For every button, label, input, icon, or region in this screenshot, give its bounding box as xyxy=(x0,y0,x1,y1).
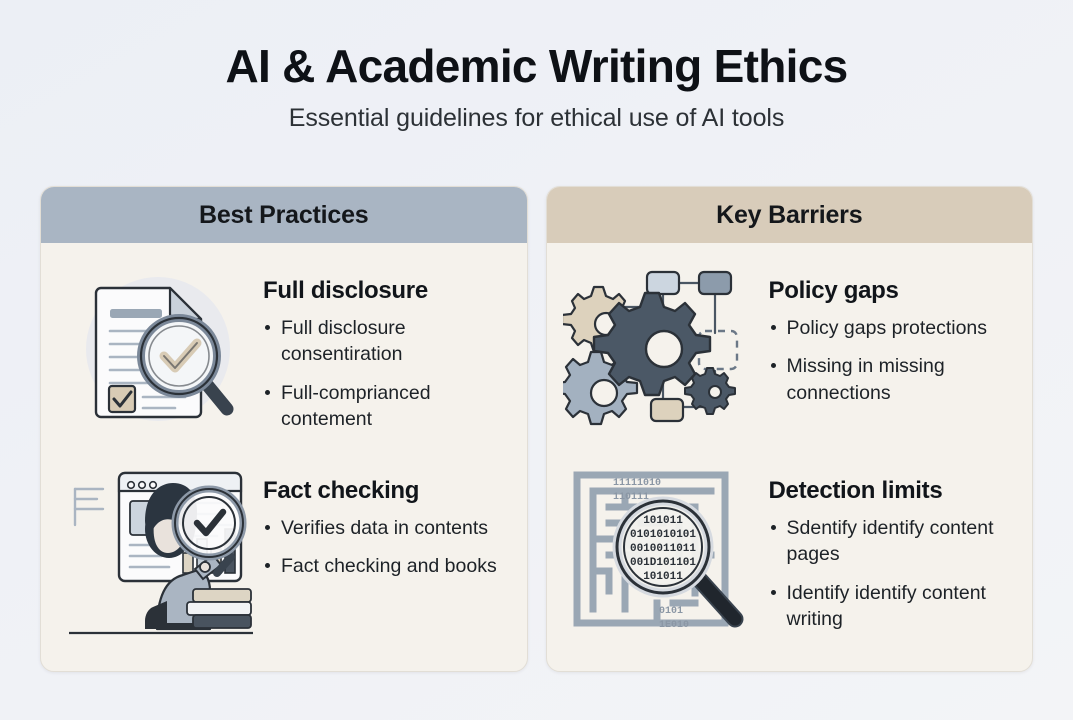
maze-binary-bottom-1: 0101 xyxy=(659,606,683,617)
page-subtitle: Essential guidelines for ethical use of … xyxy=(0,104,1073,133)
lens-binary-row: 0010011011 xyxy=(629,543,695,555)
bullet-item: Fact checking and books xyxy=(263,553,511,579)
gears-network-gap-icon xyxy=(563,261,759,439)
maze-binary-bottom-2: 1E010 xyxy=(659,620,689,631)
bullet-item: Full disclosure consentiration xyxy=(263,315,511,368)
bullets-detection-limits: Sdentify identify content pages Identify… xyxy=(769,515,1017,632)
infographic-page: AI & Academic Writing Ethics Essential g… xyxy=(0,0,1073,720)
panel-best-practices: Best Practices xyxy=(40,186,528,672)
bullet-item: Policy gaps protections xyxy=(769,315,1017,341)
section-fact-checking: Fact checking Verifies data in contents … xyxy=(57,461,511,647)
page-header: AI & Academic Writing Ethics Essential g… xyxy=(0,0,1073,133)
panel-header-key-barriers: Key Barriers xyxy=(547,187,1033,243)
section-detection-limits: 11111010 110111 0101 1E010 1010 xyxy=(563,461,1017,647)
document-magnifier-checkmark-icon xyxy=(57,261,253,439)
bullet-item: Missing in missing connections xyxy=(769,353,1017,406)
maze-binary-magnifier-icon: 11111010 110111 0101 1E010 1010 xyxy=(563,461,759,639)
bullets-fact-checking: Verifies data in contents Fact checking … xyxy=(263,515,511,580)
maze-binary-top-1: 11111010 xyxy=(613,478,661,489)
bullets-full-disclosure: Full disclosure consentiration Full-comp… xyxy=(263,315,511,432)
text-full-disclosure: Full disclosure Full disclosure consenti… xyxy=(263,261,511,432)
bullet-item: Verifies data in contents xyxy=(263,515,511,541)
lens-binary-row: 001D101101 xyxy=(629,557,695,569)
bullet-item: Identify identify content writing xyxy=(769,580,1017,633)
lens-binary-row: 0101010101 xyxy=(629,529,695,541)
section-title-fact-checking: Fact checking xyxy=(263,477,511,505)
panel-header-best-practices: Best Practices xyxy=(41,187,527,243)
page-title: AI & Academic Writing Ethics xyxy=(0,42,1073,90)
panels-container: Best Practices xyxy=(40,186,1033,672)
lens-binary-row: 101011 xyxy=(643,571,683,583)
person-dashboard-books-icon xyxy=(57,461,253,639)
section-policy-gaps: Policy gaps Policy gaps protections Miss… xyxy=(563,261,1017,447)
text-detection-limits: Detection limits Sdentify identify conte… xyxy=(769,461,1017,632)
section-title-full-disclosure: Full disclosure xyxy=(263,277,511,305)
lens-binary-row: 101011 xyxy=(643,515,683,527)
bullet-item: Full-comprianced contement xyxy=(263,380,511,433)
text-policy-gaps: Policy gaps Policy gaps protections Miss… xyxy=(769,261,1017,406)
text-fact-checking: Fact checking Verifies data in contents … xyxy=(263,461,511,580)
section-title-detection-limits: Detection limits xyxy=(769,477,1017,505)
section-title-policy-gaps: Policy gaps xyxy=(769,277,1017,305)
section-full-disclosure: Full disclosure Full disclosure consenti… xyxy=(57,261,511,447)
panel-body-key-barriers: Policy gaps Policy gaps protections Miss… xyxy=(547,243,1033,671)
panel-body-best-practices: Full disclosure Full disclosure consenti… xyxy=(41,243,527,671)
bullets-policy-gaps: Policy gaps protections Missing in missi… xyxy=(769,315,1017,406)
panel-key-barriers: Key Barriers xyxy=(546,186,1034,672)
bullet-item: Sdentify identify content pages xyxy=(769,515,1017,568)
